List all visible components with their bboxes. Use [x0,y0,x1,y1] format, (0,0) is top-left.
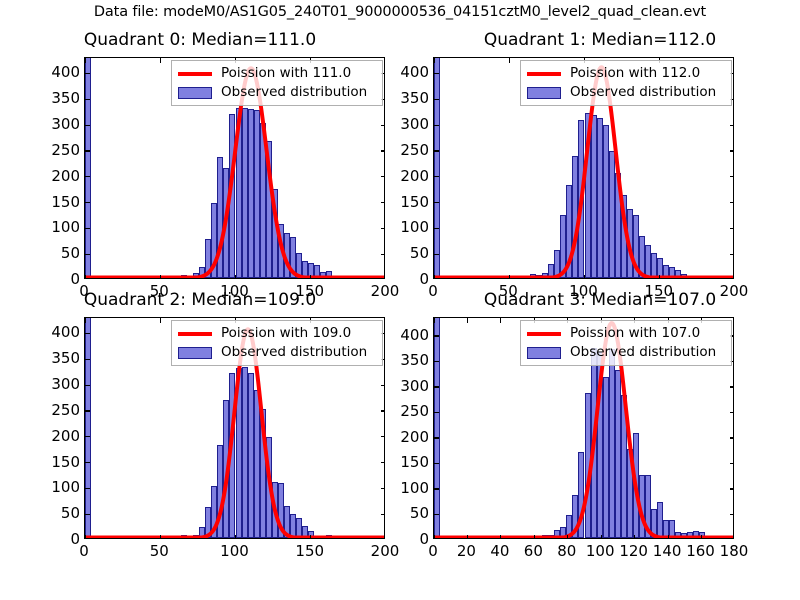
legend-row-observed: Observed distribution [526,83,726,102]
y-tick-label: 50 [387,504,429,522]
line-key-icon [177,67,213,81]
x-tick-mark [467,535,468,538]
legend-label-poisson: Poission with 111.0 [221,67,351,81]
patch-key-icon [526,86,562,100]
x-tick-mark [509,275,510,278]
legend-row-observed: Observed distribution [177,83,377,102]
x-tick-mark [85,58,86,63]
y-tick-mark [381,176,384,177]
x-tick-mark [509,58,510,63]
y-tick-label: 200 [38,427,80,445]
y-tick-mark [85,385,90,386]
y-tick-mark [434,228,439,229]
y-tick-mark [381,514,384,515]
y-tick-label: 250 [387,402,429,420]
legend-label-poisson: Poission with 109.0 [221,327,351,341]
legend-quadrant-0: Poission with 111.0 Observed distributio… [171,60,383,106]
patch-key-icon [177,86,213,100]
x-tick-mark [85,535,86,538]
y-tick-label: 50 [387,244,429,262]
y-tick-mark [434,202,439,203]
x-tick-mark [584,275,585,278]
y-tick-mark [85,73,90,74]
x-tick-mark [434,58,435,63]
y-tick-label: 200 [387,167,429,185]
y-tick-label: 150 [38,453,80,471]
x-tick-mark [467,318,468,323]
x-tick-mark [160,275,161,278]
axes-quadrant-3: Poission with 107.0 Observed distributio… [433,317,734,539]
panel-quadrant-2: Quadrant 2: Median=109.0 Poission with 1… [0,290,400,560]
y-tick-label: 300 [38,115,80,133]
panel-title-quadrant-0: Quadrant 0: Median=111.0 [0,30,400,50]
y-tick-mark [730,412,733,413]
y-tick-mark [381,254,384,255]
legend-row-poisson: Poission with 112.0 [526,64,726,83]
x-tick-mark [434,275,435,278]
y-tick-mark [85,333,90,334]
y-tick-mark [434,125,439,126]
x-tick-mark [160,318,161,323]
y-tick-mark [434,99,439,100]
legend-row-observed: Observed distribution [177,343,377,362]
legend-label-observed: Observed distribution [221,346,367,360]
y-tick-label: 100 [387,218,429,236]
y-tick-mark [434,254,439,255]
y-tick-mark [730,463,733,464]
y-tick-mark [85,436,90,437]
x-tick-label: 0 [54,542,114,560]
y-tick-mark [434,150,439,151]
x-tick-label: 100 [205,542,265,560]
axes-quadrant-0: Poission with 111.0 Observed distributio… [84,57,385,279]
x-tick-mark [500,535,501,538]
y-tick-label: 50 [38,504,80,522]
y-tick-mark [85,99,90,100]
legend-quadrant-3: Poission with 107.0 Observed distributio… [520,320,732,366]
x-tick-mark [601,535,602,538]
y-tick-label: 250 [38,401,80,419]
y-tick-mark [381,125,384,126]
line-key-icon [177,327,213,341]
legend-quadrant-2: Poission with 109.0 Observed distributio… [171,320,383,366]
legend-label-observed: Observed distribution [221,86,367,100]
line-key-icon [526,67,562,81]
x-tick-mark [434,318,435,323]
y-tick-label: 350 [38,349,80,367]
x-tick-mark [235,535,236,538]
y-tick-mark [381,202,384,203]
y-tick-mark [381,410,384,411]
y-tick-mark [434,361,439,362]
patch-key-icon [177,346,213,360]
y-tick-mark [730,488,733,489]
y-tick-mark [434,386,439,387]
y-tick-mark [434,335,439,336]
legend-row-poisson: Poission with 109.0 [177,324,377,343]
y-tick-label: 400 [38,63,80,81]
legend-label-poisson: Poission with 107.0 [570,327,700,341]
y-tick-mark [85,150,90,151]
panel-quadrant-1: Quadrant 1: Median=112.0 Poission with 1… [400,30,800,300]
x-tick-label: 150 [280,542,340,560]
axes-quadrant-2: Poission with 109.0 Observed distributio… [84,317,385,539]
y-tick-label: 350 [387,89,429,107]
y-tick-mark [381,488,384,489]
y-tick-mark [730,386,733,387]
y-tick-label: 50 [38,244,80,262]
line-key-icon [526,327,562,341]
y-tick-mark [85,488,90,489]
y-tick-label: 100 [387,479,429,497]
panel-quadrant-0: Quadrant 0: Median=111.0 Poission with 1… [0,30,400,300]
y-tick-label: 250 [38,141,80,159]
y-tick-label: 150 [387,193,429,211]
y-tick-mark [434,412,439,413]
y-tick-mark [730,150,733,151]
y-tick-mark [434,73,439,74]
x-tick-label: 50 [129,542,189,560]
y-tick-mark [85,514,90,515]
y-tick-mark [730,514,733,515]
y-tick-label: 300 [38,375,80,393]
x-tick-mark [701,535,702,538]
y-tick-label: 300 [387,115,429,133]
y-tick-mark [85,254,90,255]
y-tick-mark [730,176,733,177]
y-tick-label: 150 [387,453,429,471]
y-tick-label: 350 [38,89,80,107]
y-tick-mark [381,462,384,463]
panel-quadrant-3: Quadrant 3: Median=107.0 Poission with 1… [400,290,800,560]
matplotlib-figure: Data file: modeM0/AS1G05_240T01_90000005… [0,0,800,600]
y-tick-mark [434,437,439,438]
patch-key-icon [526,346,562,360]
y-tick-mark [85,410,90,411]
legend-row-poisson: Poission with 111.0 [177,64,377,83]
y-tick-mark [85,462,90,463]
x-tick-label: 180 [704,542,764,560]
y-tick-mark [85,202,90,203]
y-tick-mark [85,125,90,126]
y-tick-mark [730,125,733,126]
x-tick-mark [567,535,568,538]
y-tick-label: 200 [387,428,429,446]
x-tick-mark [668,535,669,538]
legend-label-observed: Observed distribution [570,346,716,360]
y-tick-label: 100 [38,478,80,496]
y-tick-mark [434,514,439,515]
y-tick-mark [730,437,733,438]
panel-title-quadrant-2: Quadrant 2: Median=109.0 [0,290,400,310]
x-tick-mark [85,275,86,278]
x-tick-mark [310,275,311,278]
y-tick-label: 250 [387,141,429,159]
legend-row-observed: Observed distribution [526,343,726,362]
y-tick-label: 100 [38,218,80,236]
y-tick-mark [730,254,733,255]
x-tick-mark [160,58,161,63]
y-tick-mark [381,436,384,437]
y-tick-label: 400 [38,323,80,341]
y-tick-mark [381,385,384,386]
x-tick-mark [85,318,86,323]
y-tick-label: 150 [38,193,80,211]
panel-title-quadrant-3: Quadrant 3: Median=107.0 [400,290,800,310]
figure-suptitle: Data file: modeM0/AS1G05_240T01_90000005… [0,4,800,20]
y-tick-mark [85,359,90,360]
x-tick-mark [235,275,236,278]
x-tick-mark [310,535,311,538]
y-tick-mark [434,176,439,177]
legend-label-observed: Observed distribution [570,86,716,100]
panel-title-quadrant-1: Quadrant 1: Median=112.0 [400,30,800,50]
y-tick-mark [730,228,733,229]
legend-quadrant-1: Poission with 112.0 Observed distributio… [520,60,732,106]
axes-quadrant-1: Poission with 112.0 Observed distributio… [433,57,734,279]
y-tick-label: 300 [387,377,429,395]
y-tick-mark [381,150,384,151]
y-tick-mark [434,463,439,464]
y-tick-mark [730,202,733,203]
legend-label-poisson: Poission with 112.0 [570,67,700,81]
x-tick-mark [634,535,635,538]
y-tick-label: 200 [38,167,80,185]
y-tick-label: 350 [387,351,429,369]
x-tick-mark [500,318,501,323]
x-tick-mark [534,535,535,538]
y-tick-mark [381,228,384,229]
y-tick-label: 400 [387,63,429,81]
x-tick-mark [160,535,161,538]
y-tick-mark [85,228,90,229]
y-tick-mark [85,176,90,177]
y-tick-mark [434,488,439,489]
x-tick-mark [434,535,435,538]
x-tick-mark [659,275,660,278]
legend-row-poisson: Poission with 107.0 [526,324,726,343]
y-tick-label: 400 [387,326,429,344]
